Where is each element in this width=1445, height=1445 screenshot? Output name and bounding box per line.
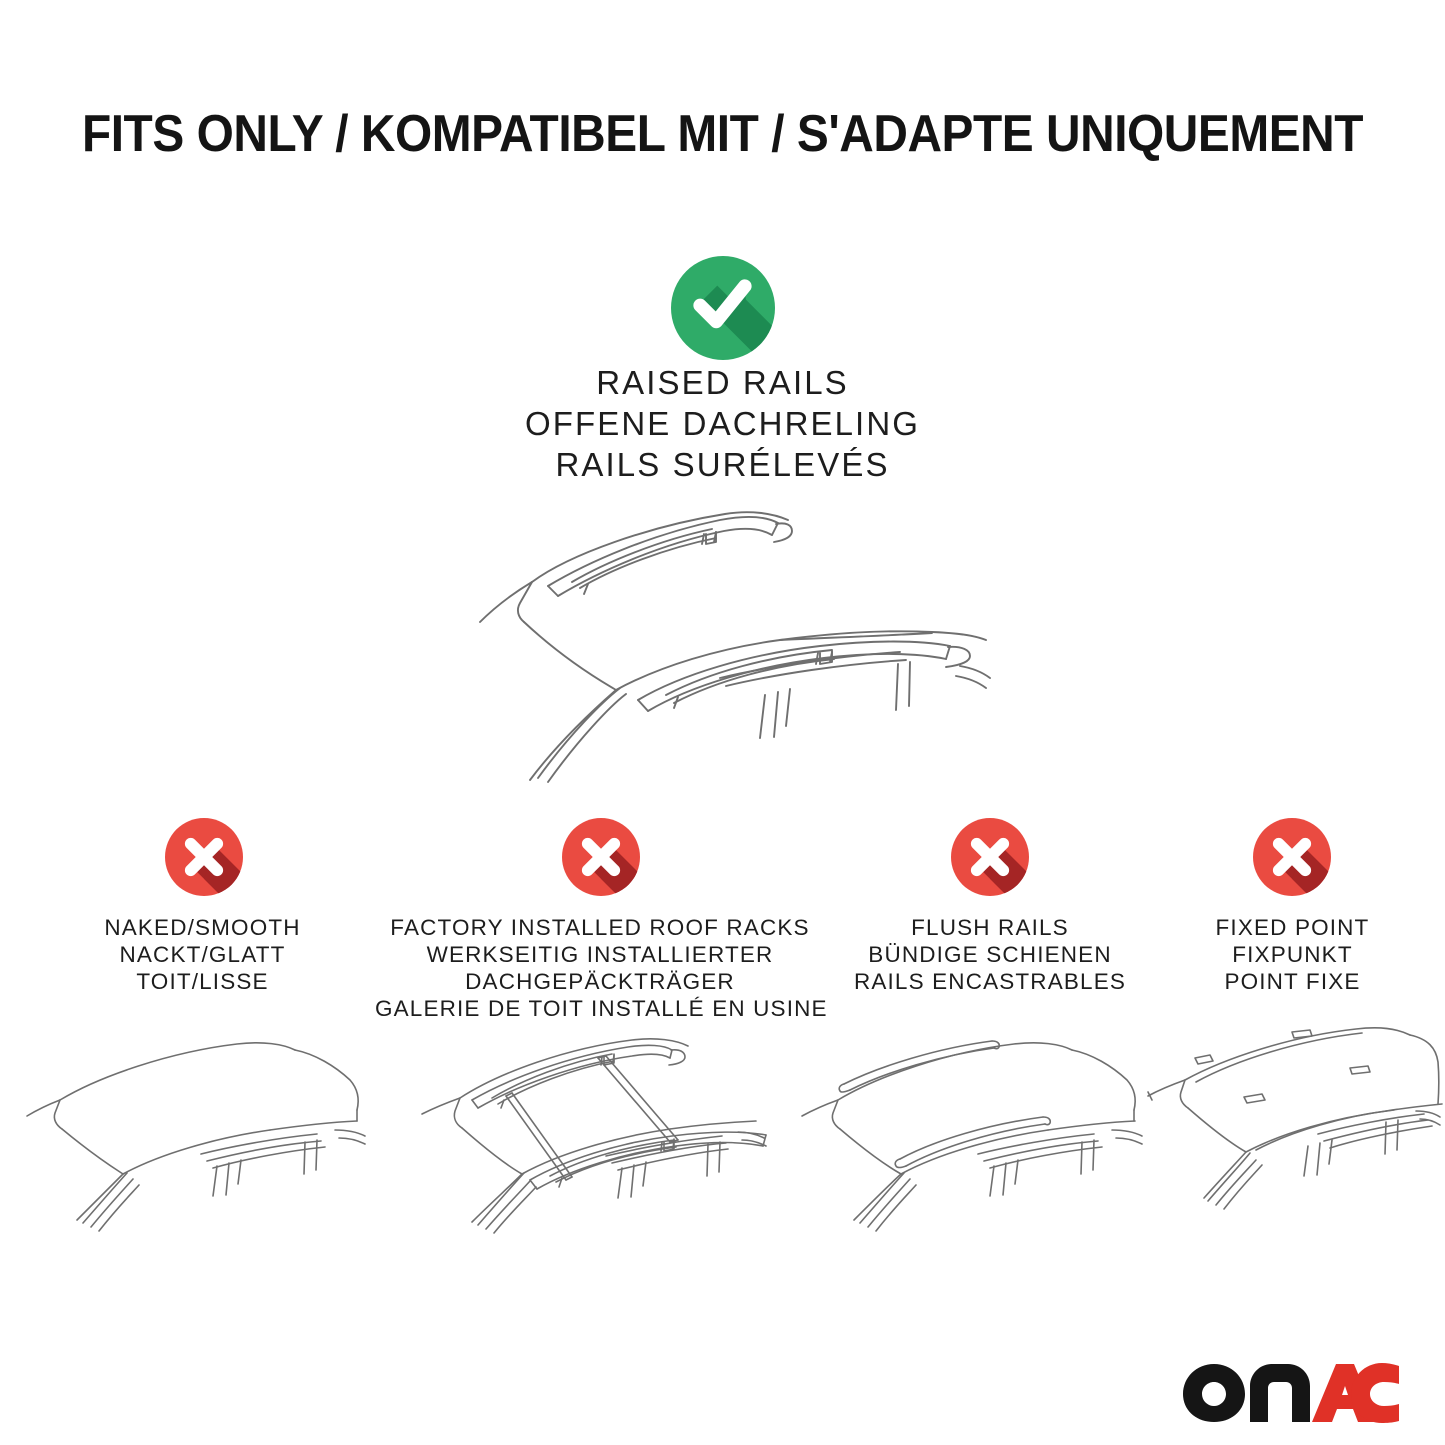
caption-line-1: FIXED POINT	[1140, 914, 1445, 941]
incompatible-caption: FACTORY INSTALLED ROOF RACKS WERKSEITIG …	[375, 914, 825, 1022]
incompatible-caption: FLUSH RAILS BÜNDIGE SCHIENEN RAILS ENCAS…	[790, 914, 1190, 995]
caption-line-2: WERKSEITIG INSTALLIERTER	[375, 941, 825, 968]
compatible-caption-line-1: RAISED RAILS	[0, 362, 1445, 403]
cross-glyph	[951, 818, 1029, 896]
check-circle-icon	[671, 256, 775, 360]
caption-line-1: FACTORY INSTALLED ROOF RACKS	[375, 914, 825, 941]
cross-circle-background	[562, 818, 640, 896]
caption-line-3: RAILS ENCASTRABLES	[790, 968, 1190, 995]
caption-line-1: FLUSH RAILS	[790, 914, 1190, 941]
incompatible-caption: FIXED POINT FIXPUNKT POINT FIXE	[1140, 914, 1445, 995]
caption-line-2: BÜNDIGE SCHIENEN	[790, 941, 1190, 968]
cross-circle-icon	[165, 818, 243, 896]
car-roof-flush-rails-illustration	[780, 1018, 1155, 1248]
compatible-caption-line-2: OFFENE DACHRELING	[0, 403, 1445, 444]
compatible-caption: RAISED RAILS OFFENE DACHRELING RAILS SUR…	[0, 362, 1445, 485]
cross-circle-background	[1253, 818, 1331, 896]
caption-line-1: NAKED/SMOOTH	[0, 914, 405, 941]
compatible-caption-line-3: RAILS SURÉLEVÉS	[0, 444, 1445, 485]
car-roof-naked-smooth-illustration	[5, 1018, 375, 1248]
page-title: FITS ONLY / KOMPATIBEL MIT / S'ADAPTE UN…	[58, 104, 1387, 164]
cross-circle-background	[165, 818, 243, 896]
cross-glyph	[1253, 818, 1331, 896]
omac-letter-o	[1183, 1364, 1245, 1422]
fitment-compatibility-infographic: FITS ONLY / KOMPATIBEL MIT / S'ADAPTE UN…	[0, 0, 1445, 1445]
car-roof-fixed-point-illustration	[1140, 1018, 1445, 1248]
caption-line-3: TOIT/LISSE	[0, 968, 405, 995]
omac-logo	[1180, 1362, 1400, 1424]
caption-line-2: FIXPUNKT	[1140, 941, 1445, 968]
car-roof-raised-rails-illustration	[420, 490, 1020, 790]
incompatible-caption: NAKED/SMOOTH NACKT/GLATT TOIT/LISSE	[0, 914, 405, 995]
caption-line-3: DACHGEPÄCKTRÄGER	[375, 968, 825, 995]
caption-line-2: NACKT/GLATT	[0, 941, 405, 968]
check-glyph	[671, 256, 775, 360]
cross-circle-icon	[951, 818, 1029, 896]
caption-line-3: POINT FIXE	[1140, 968, 1445, 995]
check-circle-background	[671, 256, 775, 360]
cross-glyph	[165, 818, 243, 896]
car-roof-factory-roof-racks-illustration	[400, 1010, 775, 1250]
cross-circle-icon	[1253, 818, 1331, 896]
cross-glyph	[562, 818, 640, 896]
cross-circle-icon	[562, 818, 640, 896]
cross-circle-background	[951, 818, 1029, 896]
omac-letter-m	[1250, 1364, 1310, 1422]
